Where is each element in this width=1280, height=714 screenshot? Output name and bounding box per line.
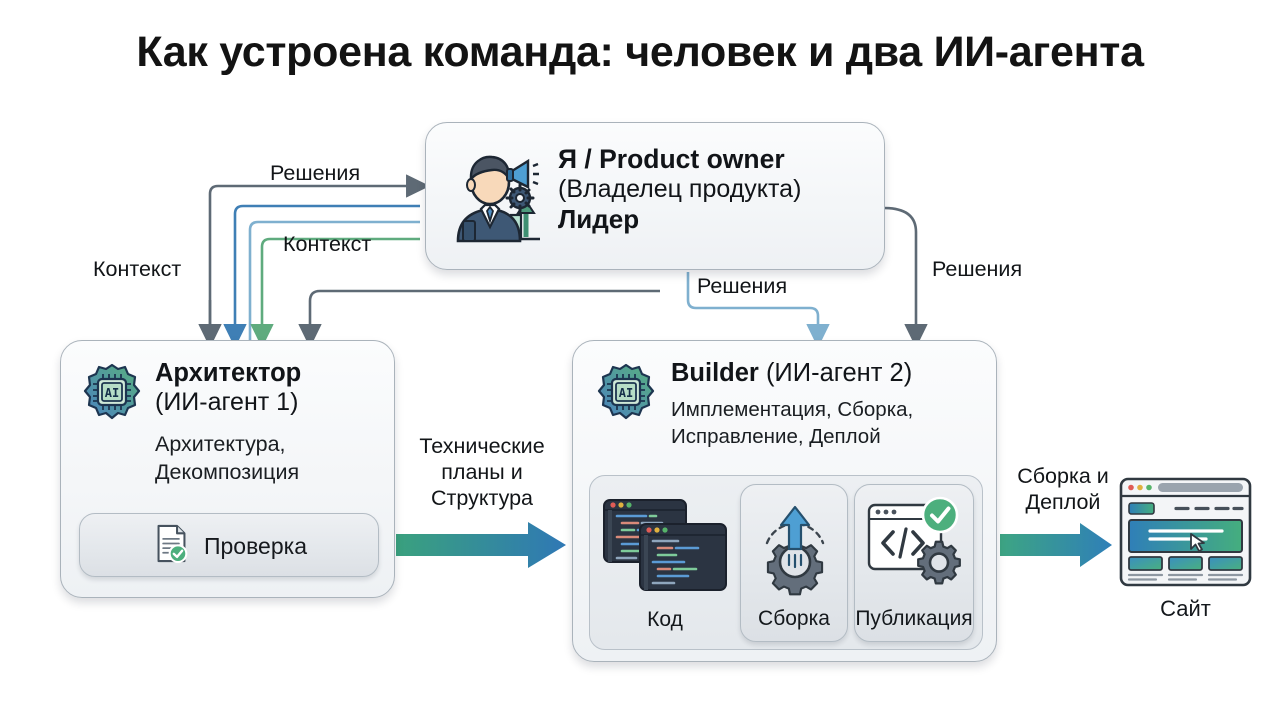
node-architect[interactable]: AI Архитектор (ИИ-агент 1) Архитектура, … <box>60 340 395 598</box>
architect-description: Архитектура, Декомпозиция <box>155 431 395 487</box>
ai-chip-gear-icon: AI <box>595 363 657 425</box>
edge-label-resheniya-top: Решения <box>270 160 360 186</box>
product-owner-role: Лидер <box>558 204 876 235</box>
builder-heading: Builder (ИИ-агент 2) <box>671 359 991 388</box>
code-windows-icon <box>600 492 730 597</box>
edge-label-kontekst-inner: Контекст <box>283 231 371 257</box>
page-title: Как устроена команда: человек и два ИИ-а… <box>0 28 1280 77</box>
builder-subcard-publish-label: Публикация <box>855 607 973 631</box>
node-builder[interactable]: AI Builder (ИИ-агент 2) Имплементация, С… <box>572 340 997 662</box>
product-owner-subtitle: (Владелец продукта) <box>558 175 876 205</box>
builder-subcard-publish[interactable]: Публикация <box>854 484 974 642</box>
edge-label-resheniya-mid: Решения <box>697 273 787 299</box>
architect-title: Архитектор <box>155 359 395 388</box>
builder-subcard-build[interactable]: Сборка <box>740 484 848 642</box>
edge-resheniya-po-right-to-builder <box>884 208 916 336</box>
browser-code-check-icon <box>855 493 973 598</box>
product-owner-title: Я / Product owner <box>558 145 876 175</box>
document-check-icon <box>153 523 190 569</box>
edge-label-tech-plans: Технические планы и Структура <box>402 433 562 512</box>
gear-upload-icon <box>741 493 847 598</box>
edge-kontekst-po-to-architect-blue <box>235 206 420 336</box>
site-label: Сайт <box>1118 596 1253 622</box>
builder-title: Builder <box>671 359 759 387</box>
architect-check-card[interactable]: Проверка <box>79 513 379 577</box>
builder-subcard-build-label: Сборка <box>741 607 847 631</box>
edge-resheniya-architect-to-po <box>210 186 418 336</box>
architect-subtitle: (ИИ-агент 1) <box>155 388 395 418</box>
node-product-owner[interactable]: Я / Product owner (Владелец продукта) Ли… <box>425 122 885 270</box>
ai-chip-gear-icon: AI <box>81 363 143 425</box>
builder-subcards-container: Код Сборка <box>589 475 983 650</box>
edge-po-to-architect-gray <box>310 291 660 336</box>
architect-check-label: Проверка <box>204 533 307 560</box>
builder-subtitle: (ИИ-агент 2) <box>766 359 912 387</box>
product-owner-text-block: Я / Product owner (Владелец продукта) Ли… <box>558 145 876 235</box>
edge-label-build-deploy: Сборка и Деплой <box>1003 463 1123 515</box>
builder-description: Имплементация, Сборка, Исправление, Депл… <box>671 397 991 450</box>
businessman-megaphone-icon <box>450 149 546 247</box>
website-mockup-icon <box>1118 476 1253 588</box>
svg-text:AI: AI <box>619 386 633 400</box>
diagram-canvas: Как устроена команда: человек и два ИИ-а… <box>0 0 1280 714</box>
edge-label-resheniya-right: Решения <box>932 256 1022 282</box>
edge-label-kontekst-left: Контекст <box>93 256 181 282</box>
edge-build-deploy-arrow <box>1000 523 1112 567</box>
builder-subcard-code[interactable]: Код <box>600 484 730 642</box>
builder-subcard-code-label: Код <box>600 608 730 632</box>
edge-tech-plans-arrow <box>396 522 566 568</box>
svg-text:AI: AI <box>105 386 119 400</box>
architect-heading: Архитектор (ИИ-агент 1) <box>155 359 395 417</box>
